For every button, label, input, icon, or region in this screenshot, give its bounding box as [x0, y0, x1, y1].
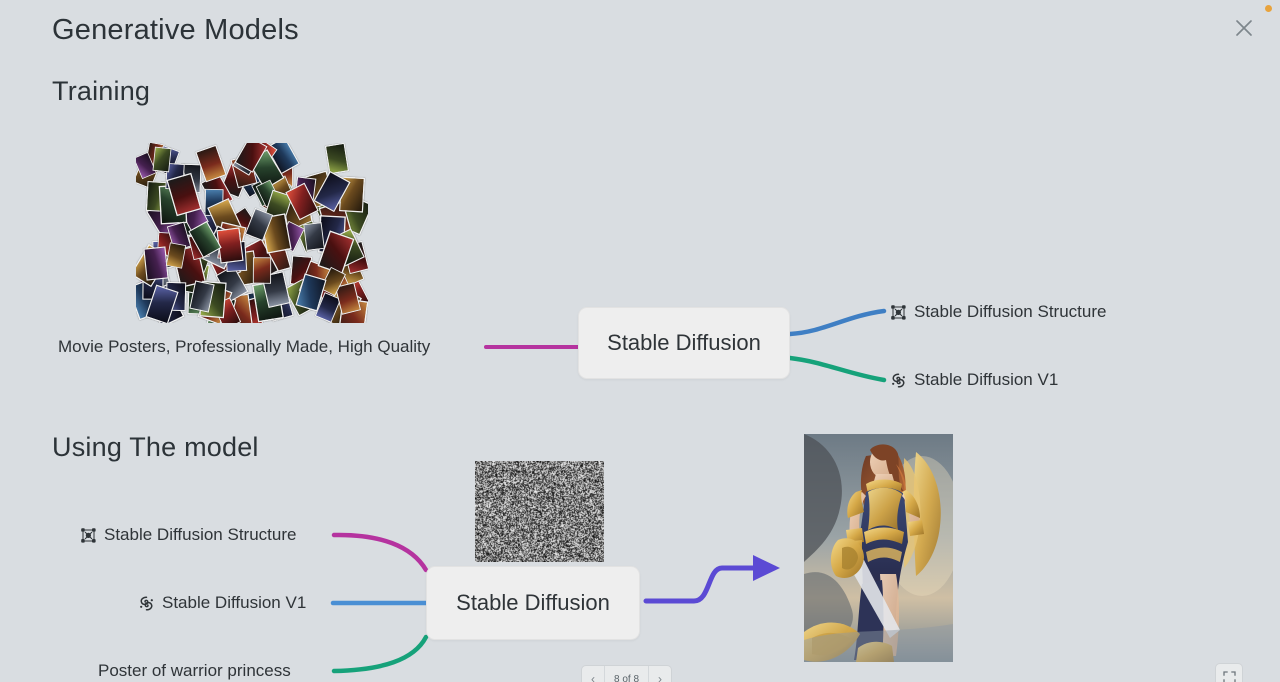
label-text: Stable Diffusion V1	[914, 370, 1058, 390]
node-stable-diffusion-inference[interactable]: Stable Diffusion	[426, 566, 640, 640]
wire-using-in-structure	[334, 535, 426, 570]
next-page-button[interactable]: ›	[649, 666, 671, 682]
wire-training-out-v1	[790, 358, 884, 380]
pagination-control[interactable]: ‹ 8 of 8 ›	[582, 666, 671, 682]
node-stable-diffusion-training[interactable]: Stable Diffusion	[578, 307, 790, 379]
swirl-weights-icon	[890, 372, 907, 389]
label-text: Stable Diffusion Structure	[914, 302, 1106, 322]
graph-structure-icon	[80, 527, 97, 544]
using-input-v1: Stable Diffusion V1	[138, 593, 306, 613]
training-input-label: Movie Posters, Professionally Made, High…	[58, 337, 430, 357]
warrior-princess-illustration	[804, 434, 953, 662]
section-heading-training: Training	[52, 76, 150, 107]
movie-poster-collage	[136, 143, 368, 323]
using-input-prompt: Poster of warrior princess	[98, 661, 291, 681]
node-label: Stable Diffusion	[607, 330, 761, 356]
wire-using-in-prompt	[334, 637, 426, 671]
poster-thumb	[304, 222, 326, 251]
poster-thumb	[325, 143, 349, 174]
fullscreen-icon	[1223, 671, 1236, 682]
label-text: Movie Posters, Professionally Made, High…	[58, 337, 430, 357]
status-dot	[1265, 5, 1272, 12]
training-output-structure: Stable Diffusion Structure	[890, 302, 1106, 322]
label-text: Poster of warrior princess	[98, 661, 291, 681]
generated-output-image	[804, 434, 953, 662]
poster-thumb	[143, 246, 168, 280]
page-title: Generative Models	[52, 14, 299, 47]
page-indicator: 8 of 8	[605, 666, 649, 682]
label-text: Stable Diffusion Structure	[104, 525, 296, 545]
section-heading-using: Using The model	[52, 432, 259, 463]
fullscreen-button[interactable]	[1216, 664, 1242, 682]
poster-thumb	[252, 258, 270, 284]
noise-seed-image	[475, 461, 604, 562]
label-text: Stable Diffusion V1	[162, 593, 306, 613]
close-button[interactable]	[1230, 14, 1258, 42]
training-output-v1: Stable Diffusion V1	[890, 370, 1058, 390]
poster-thumb	[153, 146, 172, 172]
wire-using-output	[646, 568, 774, 601]
using-input-structure: Stable Diffusion Structure	[80, 525, 296, 545]
graph-structure-icon	[890, 304, 907, 321]
slide-viewer: Generative Models Training Using The mod…	[0, 0, 1280, 682]
swirl-weights-icon	[138, 595, 155, 612]
prev-page-button[interactable]: ‹	[582, 666, 605, 682]
close-icon	[1233, 17, 1255, 39]
noise-canvas	[475, 461, 604, 562]
wire-training-out-structure	[790, 311, 884, 334]
node-label: Stable Diffusion	[456, 590, 610, 616]
